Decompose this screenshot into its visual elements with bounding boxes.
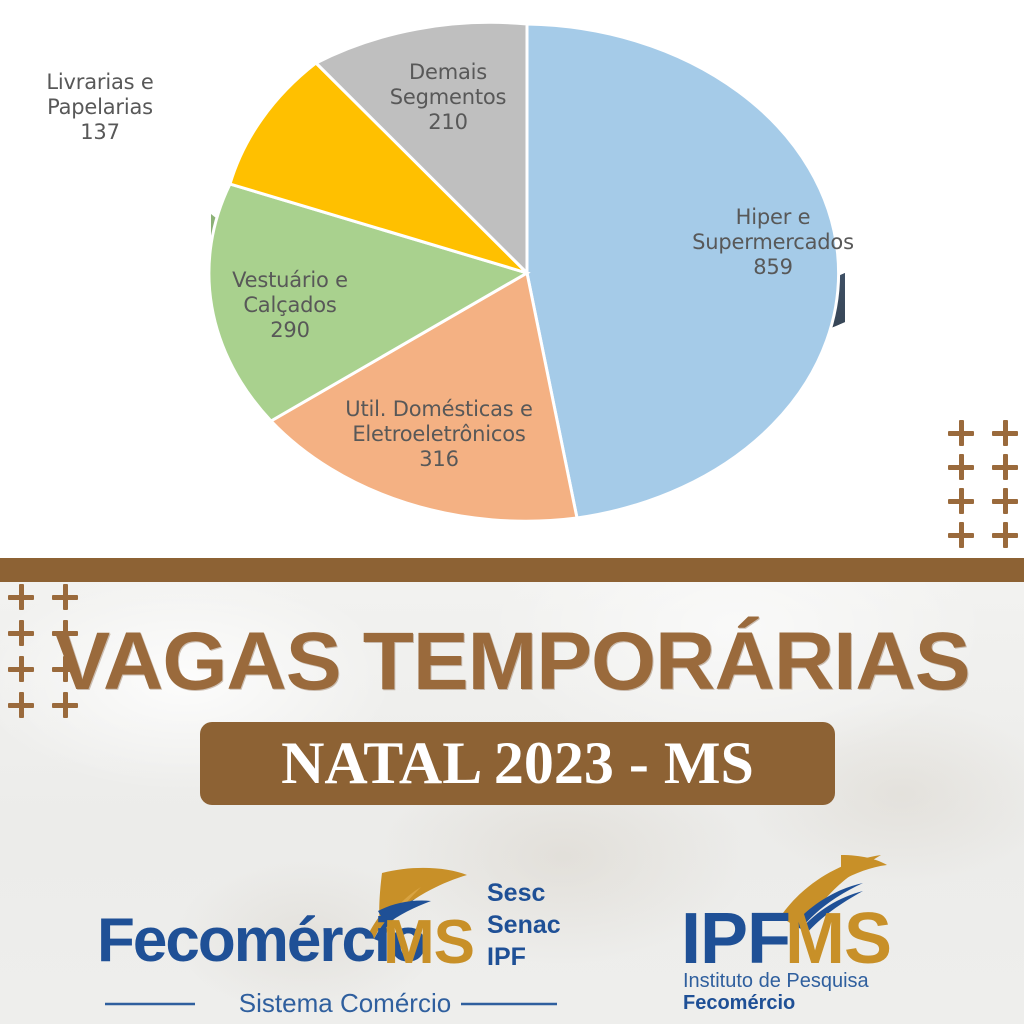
pie-label-livrarias: Livrarias e Papelarias 137 bbox=[30, 70, 170, 145]
plus-icon bbox=[992, 488, 1018, 514]
plus-decoration-right bbox=[948, 420, 1024, 556]
pie-label-hiper: Hiper e Supermercados 859 bbox=[668, 205, 878, 280]
fecomercio-logo: Fecomércio MS Sesc Senac IPF Sistema Com… bbox=[95, 865, 595, 1015]
pie-label-utilidades-line1: Util. Domésticas e bbox=[345, 397, 532, 421]
pie-label-hiper-line1: Hiper e bbox=[736, 205, 811, 229]
ipf-abbr-blue: IPF bbox=[681, 899, 790, 979]
page-title: VAGAS TEMPORÁRIAS bbox=[0, 615, 1024, 709]
pie-label-hiper-value: 859 bbox=[668, 255, 878, 280]
pie-label-demais: Demais Segmentos 210 bbox=[378, 60, 518, 135]
plus-icon bbox=[52, 692, 78, 718]
ipf-subtitle-line2: Fecomércio bbox=[683, 992, 795, 1014]
pie-label-utilidades-line2: Eletroeletrônicos bbox=[352, 422, 525, 446]
pie-label-vestuario-line1: Vestuário e bbox=[232, 268, 348, 292]
plus-icon bbox=[992, 454, 1018, 480]
plus-icon bbox=[52, 620, 78, 646]
pie-label-vestuario-line2: Calçados bbox=[243, 293, 336, 317]
fecomercio-state: MS bbox=[383, 908, 474, 977]
plus-icon bbox=[948, 420, 974, 446]
pie-label-livrarias-line1: Livrarias e bbox=[46, 70, 153, 94]
pie-label-vestuario: Vestuário e Calçados 290 bbox=[210, 268, 370, 343]
fecomercio-wordmark: Fecomércio bbox=[97, 906, 425, 975]
chart-area: Hiper e Supermercados 859 Util. Doméstic… bbox=[0, 0, 1024, 558]
plus-icon bbox=[8, 620, 34, 646]
plus-icon bbox=[948, 454, 974, 480]
plus-icon bbox=[948, 522, 974, 548]
pie-label-livrarias-value: 137 bbox=[30, 120, 170, 145]
ipfms-logo: IPF MS Instituto de Pesquisa Fecomércio bbox=[655, 855, 995, 1015]
subtitle-badge: NATAL 2023 - MS bbox=[200, 722, 835, 805]
ipf-subtitle-line1: Instituto de Pesquisa bbox=[683, 970, 870, 992]
brand-sesc: Sesc bbox=[487, 879, 545, 907]
subtitle-text: NATAL 2023 - MS bbox=[281, 729, 754, 798]
pie-label-hiper-line2: Supermercados bbox=[692, 230, 854, 254]
pie-label-utilidades-value: 316 bbox=[331, 447, 547, 472]
pie-label-demais-line1: Demais bbox=[409, 60, 487, 84]
plus-icon bbox=[948, 488, 974, 514]
plus-icon bbox=[52, 656, 78, 682]
plus-icon bbox=[8, 656, 34, 682]
plus-icon bbox=[992, 522, 1018, 548]
pie-label-vestuario-value: 290 bbox=[210, 318, 370, 343]
pie-label-demais-value: 210 bbox=[378, 110, 518, 135]
brand-senac: Senac bbox=[487, 911, 561, 939]
ipf-abbr-gold: MS bbox=[785, 899, 891, 979]
pie-label-demais-line2: Segmentos bbox=[390, 85, 507, 109]
plus-icon bbox=[8, 584, 34, 610]
fecomercio-tagline: Sistema Comércio bbox=[239, 988, 451, 1015]
pie-label-utilidades: Util. Domésticas e Eletroeletrônicos 316 bbox=[331, 397, 547, 472]
plus-icon bbox=[52, 584, 78, 610]
plus-icon bbox=[992, 420, 1018, 446]
brand-ipf: IPF bbox=[487, 943, 526, 971]
pie-label-livrarias-line2: Papelarias bbox=[47, 95, 153, 119]
plus-icon bbox=[8, 692, 34, 718]
divider-band bbox=[0, 558, 1024, 582]
poster-root: Hiper e Supermercados 859 Util. Doméstic… bbox=[0, 0, 1024, 1024]
plus-decoration-left bbox=[8, 584, 96, 728]
